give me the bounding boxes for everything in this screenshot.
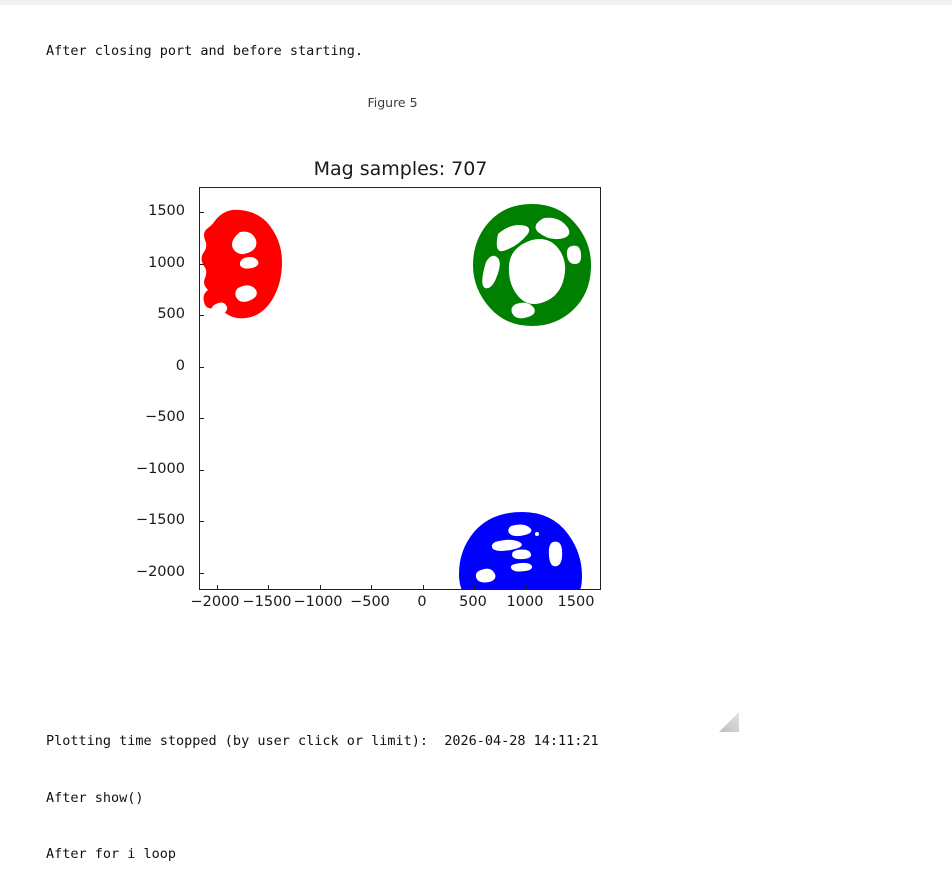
ytick-label: −2000 <box>95 564 185 580</box>
console-line-after-show: After show() <box>46 789 599 808</box>
resize-grip-icon[interactable] <box>719 712 739 732</box>
xtick-mark <box>320 585 321 589</box>
ytick-label: −500 <box>95 409 185 425</box>
ytick-label: 0 <box>95 358 185 374</box>
scatter-cluster-green <box>472 200 594 328</box>
ytick-mark <box>200 212 204 213</box>
scatter-cluster-red <box>199 196 304 326</box>
xtick-mark <box>526 585 527 589</box>
xtick-mark <box>577 585 578 589</box>
ytick-mark <box>200 470 204 471</box>
scatter-cluster-blue <box>459 510 585 590</box>
ytick-label: 1500 <box>95 203 185 219</box>
plot-title: Mag samples: 707 <box>199 158 602 180</box>
matplotlib-figure[interactable]: Figure 5 Mag samples: 707 <box>0 86 785 656</box>
ytick-label: 1000 <box>95 255 185 271</box>
xtick-mark <box>268 585 269 589</box>
ytick-mark <box>200 573 204 574</box>
ytick-label: −1500 <box>95 512 185 528</box>
console-output-bottom: Plotting time stopped (by user click or … <box>46 695 599 882</box>
ytick-mark <box>200 264 204 265</box>
console-line-after-loop: After for i loop <box>46 845 599 864</box>
figure-caption: Figure 5 <box>0 95 785 110</box>
xtick-mark <box>217 585 218 589</box>
xtick-label: 1500 <box>536 594 616 610</box>
ytick-mark <box>200 521 204 522</box>
console-line-after-closing-port: After closing port and before starting. <box>46 42 379 61</box>
ytick-mark <box>200 367 204 368</box>
xtick-mark <box>474 585 475 589</box>
console-line-plot-stopped: Plotting time stopped (by user click or … <box>46 732 599 751</box>
xtick-mark <box>423 585 424 589</box>
plot-axes-frame[interactable] <box>199 187 601 590</box>
ytick-label: 500 <box>95 306 185 322</box>
ytick-label: −1000 <box>95 461 185 477</box>
xtick-mark <box>371 585 372 589</box>
ytick-mark <box>200 315 204 316</box>
ytick-mark <box>200 418 204 419</box>
